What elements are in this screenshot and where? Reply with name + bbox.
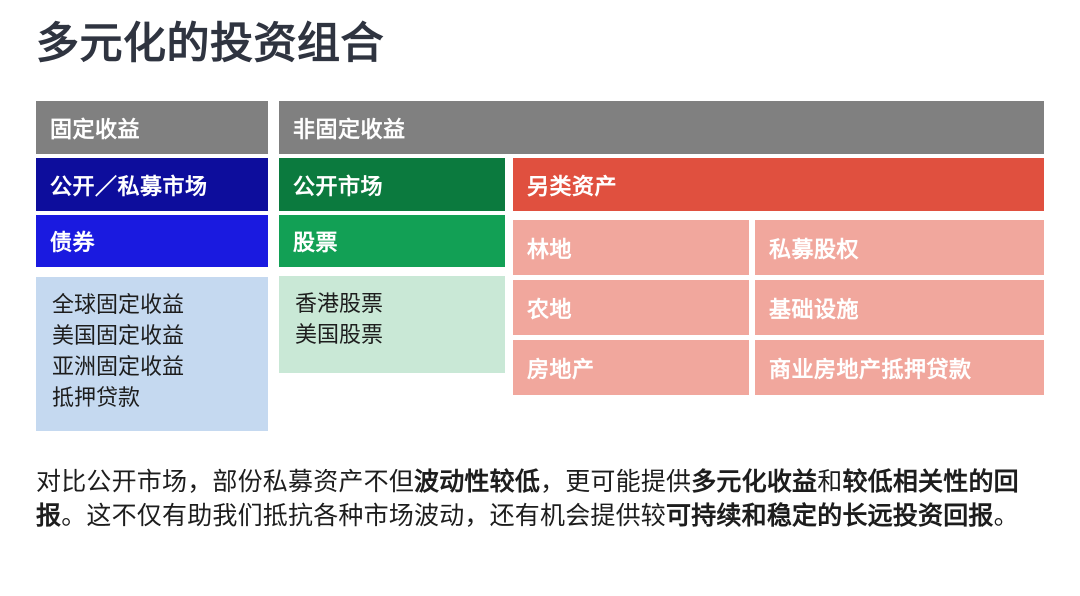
header-non-fixed-income: 非固定收益: [279, 101, 1044, 154]
fixed-income-item-list: 全球固定收益 美国固定收益 亚洲固定收益 抵押贷款: [36, 277, 268, 431]
paragraph-text: 对比公开市场，部份私募资产不但: [36, 468, 414, 496]
alternatives-grid: 林地 私募股权 农地 基础设施 房地产 商业房地产抵押贷款: [513, 220, 1044, 397]
paragraph-text: ，更可能提供: [540, 468, 691, 496]
paragraph-emphasis: 可持续和稳定的长远投资回报: [666, 502, 994, 530]
alt-cell-real-estate: 房地产: [513, 340, 749, 395]
alt-cell-forestland: 林地: [513, 220, 749, 275]
paragraph-text: 。: [994, 502, 1019, 530]
alt-cell-private-equity: 私募股权: [755, 220, 1044, 275]
list-item: 美国固定收益: [52, 320, 268, 351]
paragraph-text: 和: [817, 468, 842, 496]
alt-cell-commercial-mortgage: 商业房地产抵押贷款: [755, 340, 1044, 395]
list-item: 美国股票: [295, 319, 505, 350]
market-type-public-markets: 公开市场: [279, 158, 505, 211]
list-item: 抵押贷款: [52, 382, 268, 413]
alt-cell-farmland: 农地: [513, 280, 749, 335]
paragraph-text: 。这不仅有助我们抵抗各种市场波动，还有机会提供较: [61, 502, 666, 530]
header-fixed-income: 固定收益: [36, 101, 268, 154]
asset-class-bonds: 债券: [36, 215, 268, 267]
public-markets-item-list: 香港股票 美国股票: [279, 276, 505, 373]
summary-paragraph: 对比公开市场，部份私募资产不但波动性较低，更可能提供多元化收益和较低相关性的回报…: [36, 465, 1044, 533]
slide-canvas: 多元化的投资组合 固定收益 非固定收益 公开／私募市场 公开市场 另类资产 债券…: [0, 0, 1080, 596]
asset-class-equities: 股票: [279, 215, 505, 267]
paragraph-emphasis: 多元化收益: [691, 468, 817, 496]
alt-cell-infrastructure: 基础设施: [755, 280, 1044, 335]
page-title: 多元化的投资组合: [36, 19, 384, 71]
list-item: 亚洲固定收益: [52, 351, 268, 382]
paragraph-emphasis: 波动性较低: [414, 468, 540, 496]
list-item: 全球固定收益: [52, 289, 268, 320]
market-type-alternatives: 另类资产: [513, 158, 1044, 211]
portfolio-matrix: 固定收益 非固定收益 公开／私募市场 公开市场 另类资产 债券 股票 全球固定收…: [36, 101, 1044, 431]
list-item: 香港股票: [295, 288, 505, 319]
market-type-public-private: 公开／私募市场: [36, 158, 268, 211]
